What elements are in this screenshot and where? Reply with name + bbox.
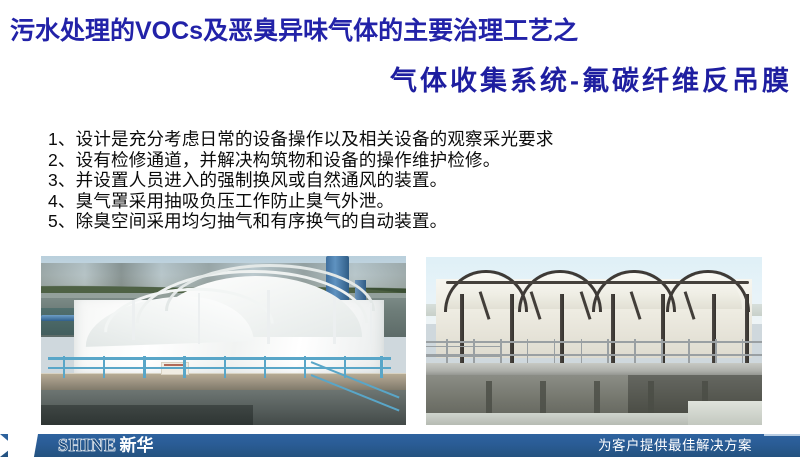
company-logo: SHINE 新华 <box>58 435 154 456</box>
railing-post <box>304 356 306 378</box>
warning-sign-text <box>164 364 186 366</box>
railing-post <box>742 339 744 363</box>
support-strut <box>333 297 336 344</box>
list-item-number: 3、 <box>48 170 76 191</box>
wall-buttress <box>486 381 492 415</box>
list-item-number: 1、 <box>48 129 76 150</box>
wall-buttress <box>540 381 546 415</box>
support-strut <box>267 290 270 344</box>
support-strut <box>370 303 373 344</box>
concrete-base-shadow <box>41 405 253 425</box>
list-item-text: 臭气罩采用抽吸负压工作防止臭气外泄。 <box>76 191 395 211</box>
list-item-text: 除臭空间采用均匀抽气和有序换气的自动装置。 <box>76 211 448 231</box>
list-item: 4、臭气罩采用抽吸负压工作防止臭气外泄。 <box>48 191 708 212</box>
handrail <box>426 341 762 343</box>
list-item-text: 并设置人员进入的强制换风或自然通风的装置。 <box>76 170 448 190</box>
left-platform-structure <box>426 328 500 368</box>
wall-buttress <box>648 381 654 415</box>
railing-post <box>143 356 145 378</box>
railing-post <box>183 356 185 378</box>
support-strut <box>198 293 201 344</box>
bullet-list: 1、设计是充分考虑日常的设备操作以及相关设备的观察采光要求 2、设有检修通道，并… <box>48 129 708 232</box>
slide-title-main: 污水处理的VOCs及恶臭异味气体的主要治理工艺之 <box>10 17 578 46</box>
railing-post <box>446 339 448 363</box>
railing-post <box>554 339 556 363</box>
railing-post <box>264 356 266 378</box>
railing-post <box>103 356 105 378</box>
photo-left <box>41 256 406 425</box>
list-item-number: 5、 <box>48 211 76 232</box>
list-item: 5、除臭空间采用均匀抽气和有序换气的自动装置。 <box>48 211 708 232</box>
wall-buttress <box>594 381 600 415</box>
list-item-number: 2、 <box>48 150 76 171</box>
railing-post <box>634 339 636 363</box>
railing-post <box>63 356 65 378</box>
blue-railing-rail <box>48 357 391 359</box>
list-item: 3、并设置人员进入的强制换风或自然通风的装置。 <box>48 170 708 191</box>
presentation-slide: 污水处理的VOCs及恶臭异味气体的主要治理工艺之 气体收集系统-氟碳纤维反吊膜 … <box>0 0 800 457</box>
ridge-beam <box>446 281 748 285</box>
footer-hairline <box>764 434 800 436</box>
railing-post <box>500 339 502 363</box>
railing-post <box>607 339 609 363</box>
list-item: 1、设计是充分考虑日常的设备操作以及相关设备的观察采光要求 <box>48 129 708 150</box>
footer-tagline: 为客户提供最佳解决方案 <box>598 437 752 454</box>
railing-post <box>380 356 382 378</box>
railing-post <box>527 339 529 363</box>
blue-railing-rail <box>48 367 391 369</box>
snow-patch <box>688 401 762 425</box>
handrail <box>426 354 762 356</box>
slide-footer: SHINE 新华 为客户提供最佳解决方案 <box>0 434 800 457</box>
list-item: 2、设有检修通道，并解决构筑物和设备的操作维护检修。 <box>48 150 708 171</box>
logo-text-cn: 新华 <box>120 435 154 456</box>
support-strut <box>132 300 135 341</box>
railing-post <box>661 339 663 363</box>
list-item-text: 设有检修通道，并解决构筑物和设备的操作维护检修。 <box>76 150 501 170</box>
list-item-number: 4、 <box>48 191 76 212</box>
list-item-text: 设计是充分考虑日常的设备操作以及相关设备的观察采光要求 <box>76 129 554 149</box>
railing-post <box>224 356 226 378</box>
slide-title-sub: 气体收集系统-氟碳纤维反吊膜 <box>390 66 792 97</box>
logo-slant-shape <box>8 434 58 457</box>
photo-right <box>426 257 762 425</box>
railing-post <box>688 339 690 363</box>
railing-post <box>581 339 583 363</box>
logo-text-en: SHINE <box>58 435 117 456</box>
railing-post <box>715 339 717 363</box>
railing-post <box>473 339 475 363</box>
